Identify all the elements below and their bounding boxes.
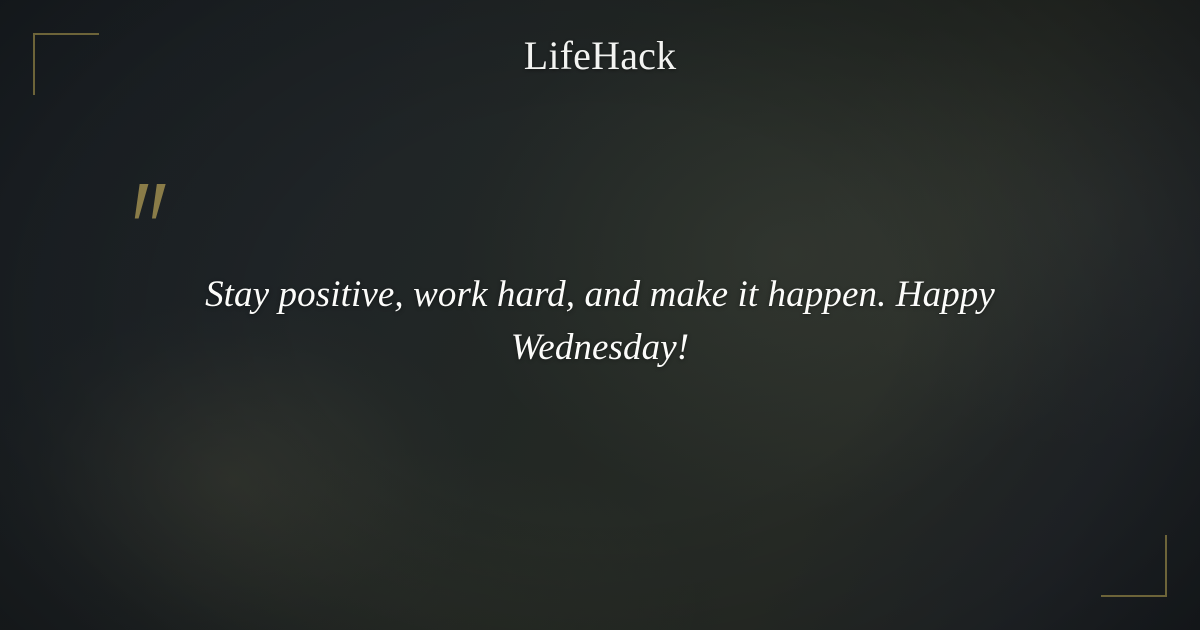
quote-block: Stay positive, work hard, and make it ha…: [150, 268, 1050, 374]
double-quote-icon: [128, 178, 198, 238]
brand-logo: LifeHack: [0, 36, 1200, 76]
quote-text: Stay positive, work hard, and make it ha…: [150, 268, 1050, 374]
corner-bracket-bottom-right-icon: [1101, 535, 1167, 597]
quote-card: LifeHack Stay positive, work hard, and m…: [0, 0, 1200, 630]
